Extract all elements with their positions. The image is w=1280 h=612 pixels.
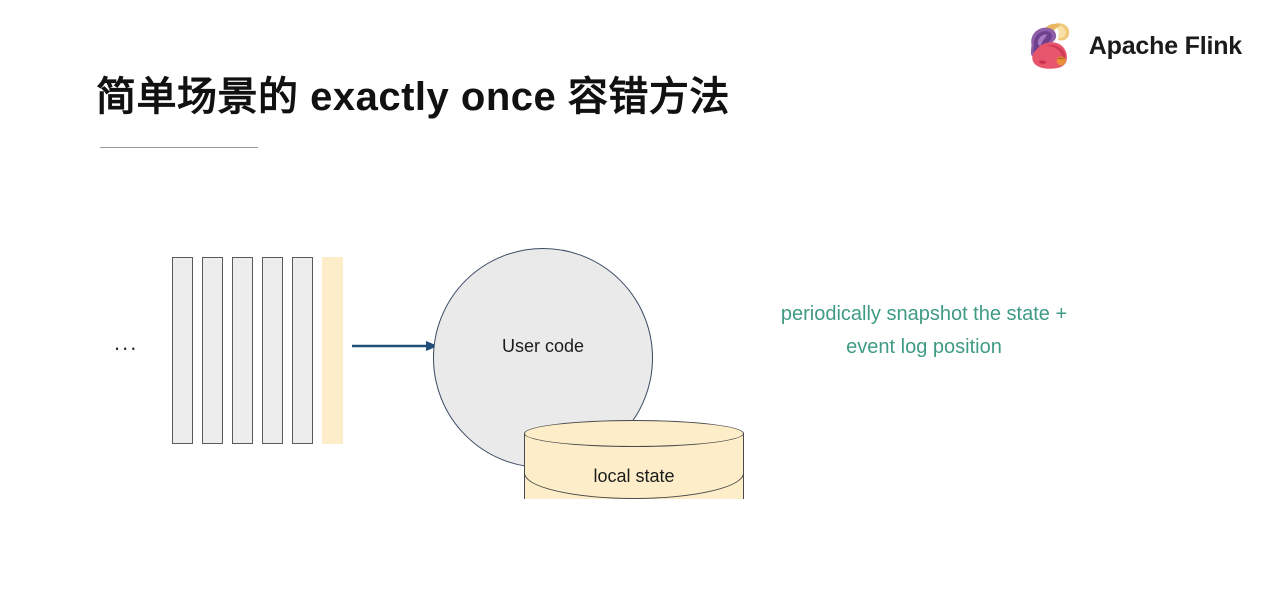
user-code-label: User code <box>433 336 653 357</box>
event-log-bars <box>172 257 343 444</box>
annotation-line-1: periodically snapshot the state + <box>781 303 1067 325</box>
event-log-bar-current <box>322 257 343 444</box>
local-state-label: local state <box>524 466 744 487</box>
flow-arrow-icon <box>352 338 438 354</box>
event-log-bar-processed <box>172 257 193 444</box>
fault-tolerance-diagram: ... User code local state periodically s… <box>0 0 1280 612</box>
event-log-ellipsis: ... <box>114 332 138 354</box>
local-state-cylinder: local state <box>524 420 744 512</box>
event-log-bar-processed <box>262 257 283 444</box>
event-log-bar-processed <box>232 257 253 444</box>
cylinder-top-cap <box>524 420 744 447</box>
event-log-bar-processed <box>292 257 313 444</box>
annotation-line-2: event log position <box>846 336 1002 358</box>
event-log-bar-processed <box>202 257 223 444</box>
snapshot-annotation: periodically snapshot the state + event … <box>724 298 1124 364</box>
